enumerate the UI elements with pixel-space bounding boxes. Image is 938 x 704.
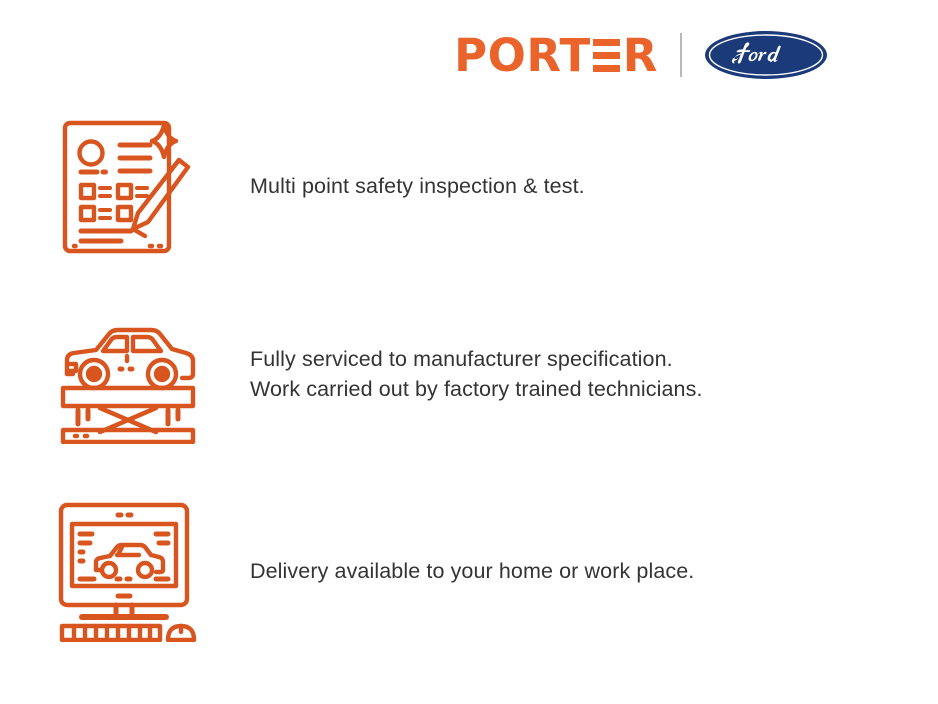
feature-row-service: Fully serviced to manufacturer specifica… [0,300,938,448]
brand-lockup-inner: PORT R [454,30,828,80]
brand-lockup: PORT R [0,24,938,86]
porter-logo-text-post: R [623,33,658,78]
feature-line: Delivery available to your home or work … [250,556,938,586]
porter-logo-text-pre: PORT [454,33,591,78]
feature-line: Fully serviced to manufacturer specifica… [250,344,938,374]
porter-e-bars-icon [593,39,620,72]
feature-text-delivery: Delivery available to your home or work … [250,556,938,586]
feature-row-delivery: Delivery available to your home or work … [0,496,938,646]
feature-text-inspection: Multi point safety inspection & test. [250,171,938,201]
brand-divider [680,33,682,77]
feature-line: Multi point safety inspection & test. [250,171,938,201]
porter-logo: PORT R [454,33,658,78]
monitor-car-keyboard-mouse-icon [0,500,250,642]
feature-line: Work carried out by factory trained tech… [250,374,938,404]
feature-row-inspection: Multi point safety inspection & test. [0,112,938,260]
feature-text-service: Fully serviced to manufacturer specifica… [250,344,938,404]
ford-oval-logo [704,30,828,80]
clipboard-checklist-sparkle-pencil-icon [0,115,250,257]
car-on-scissor-lift-icon [0,304,250,444]
